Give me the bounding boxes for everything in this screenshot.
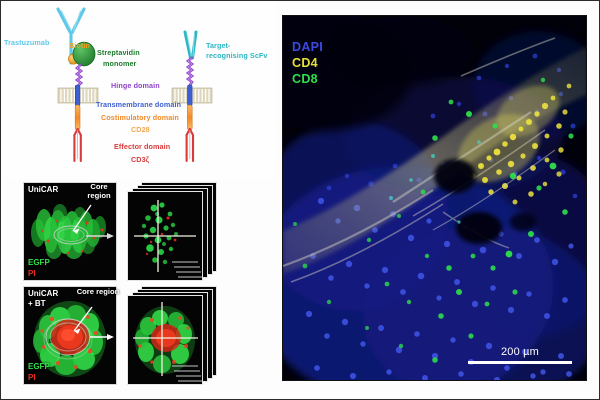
channel-pi-unicar-bt: PI [28,373,36,382]
transmembrane-left [75,85,80,106]
zstack-card-front [127,191,203,281]
costim-right [187,105,192,130]
figure-canvas: Trastuzumab Biotin B Streptavidin monome… [0,0,600,400]
label-streptavidin-line2: monomer [103,60,136,69]
costim-left [75,105,80,130]
confocal-condition-unicar-bt: UniCAR [28,290,58,299]
core-region-label-unicar: Core region [77,183,121,200]
hinge-right [188,58,192,86]
channel-egfp-unicar: EGFP [28,258,50,267]
confocal-row-unicar-bt: UniCAR + BT EGFP PI Core region [17,286,222,386]
channel-pi-unicar: PI [28,269,36,278]
channel-egfp-unicar-bt: EGFP [28,362,50,371]
label-scfv-line1: Target- [206,42,231,51]
label-trastuzumab: Trastuzumab [4,39,49,48]
legend-cd8: CD8 [292,72,318,86]
label-cd3zeta: CD3ζ [131,156,149,165]
confocal-zstack-unicar [127,182,215,279]
micrograph-render [283,16,587,381]
label-cd28: CD28 [131,126,150,135]
label-transmembrane-domain: Transmembrane domain [96,101,181,110]
label-effector-domain: Effector domain [114,143,170,152]
scalebar-group: 200 µm [468,346,572,364]
confocal-row-unicar: UniCAR EGFP PI Core region [17,182,222,282]
label-hinge-domain: Hinge domain [111,82,160,91]
panel-a-schematic: Trastuzumab Biotin B Streptavidin monome… [1,1,276,179]
label-biotin: Biotin [69,42,90,51]
zstack-green-render [128,192,202,280]
label-scfv-line2: recognising ScFv [206,52,268,61]
zstack-green-red-render [128,296,202,384]
transmembrane-right [188,85,193,106]
core-region-label-unicar-bt: Core region [69,288,127,297]
confocal-main-unicar-bt: UniCAR + BT EGFP PI [23,286,117,385]
confocal-condition-unicar: UniCAR [28,186,58,195]
panel-b-confocal: UniCAR EGFP PI Core region [17,182,222,391]
core-region-line1: Core [90,182,107,191]
confocal-condition-unicar-bt-line2: + BT [28,300,46,309]
legend-dapi: DAPI [292,40,323,54]
scalebar-line [468,361,572,364]
core-region-line2: region [87,191,110,200]
confocal-zstack-unicar-bt [127,286,215,383]
label-costimulatory-domain: Costimulatory domain [101,114,179,123]
label-streptavidin-line1: Streptavidin [97,49,140,58]
hinge-left [77,65,81,86]
scalebar-label: 200 µm [468,346,572,358]
zstack-card-front [127,295,203,385]
legend-cd4: CD4 [292,56,318,70]
panel-c-immunofluorescence: DAPI CD4 CD8 200 µm [282,15,587,381]
